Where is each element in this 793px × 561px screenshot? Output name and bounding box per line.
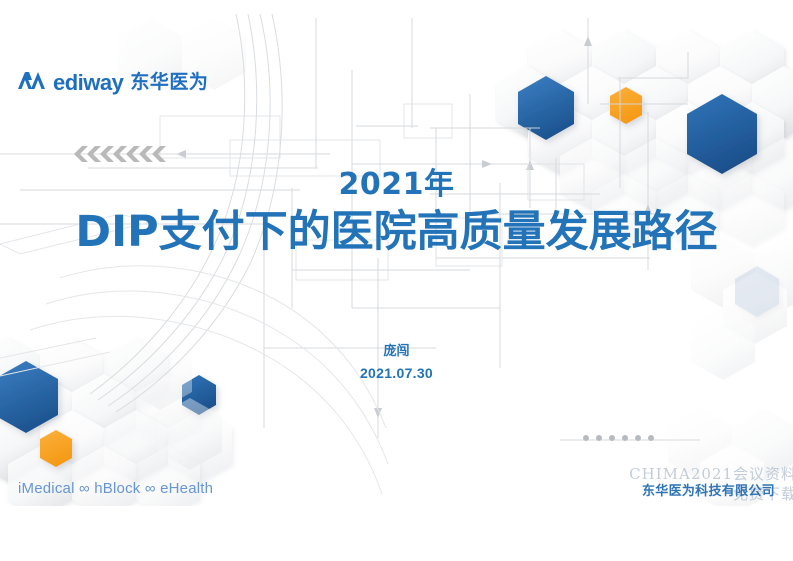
decorative-dots [583, 435, 654, 441]
dot [583, 435, 589, 441]
dot [648, 435, 654, 441]
dot [596, 435, 602, 441]
mediway-chevron-mark-icon [18, 70, 46, 95]
dot [622, 435, 628, 441]
presentation-date: 2021.07.30 [0, 362, 793, 384]
presentation-slide: ediway 东华医为 2021年 DIP支付下的医院高质量发展路径 庞闯 20… [0, 0, 793, 561]
dot [635, 435, 641, 441]
slide-main-title: DIP支付下的医院高质量发展路径 [0, 208, 793, 256]
slide-canvas: ediway 东华医为 2021年 DIP支付下的医院高质量发展路径 庞闯 20… [0, 8, 793, 506]
mediway-logo: ediway 东华医为 [18, 70, 208, 95]
company-name: 东华医为科技有限公司 [642, 480, 775, 499]
slide-year: 2021年 [0, 166, 793, 204]
presenter-name: 庞闯 [0, 342, 793, 362]
footer-tagline: iMedical ∞ hBlock ∞ eHealth [18, 480, 213, 497]
title-block: 2021年 DIP支付下的医院高质量发展路径 [0, 166, 793, 256]
presenter-block: 庞闯 2021.07.30 [0, 342, 793, 384]
logo-chinese-name: 东华医为 [130, 73, 208, 92]
logo-wordmark: ediway [53, 72, 123, 94]
dot [609, 435, 615, 441]
